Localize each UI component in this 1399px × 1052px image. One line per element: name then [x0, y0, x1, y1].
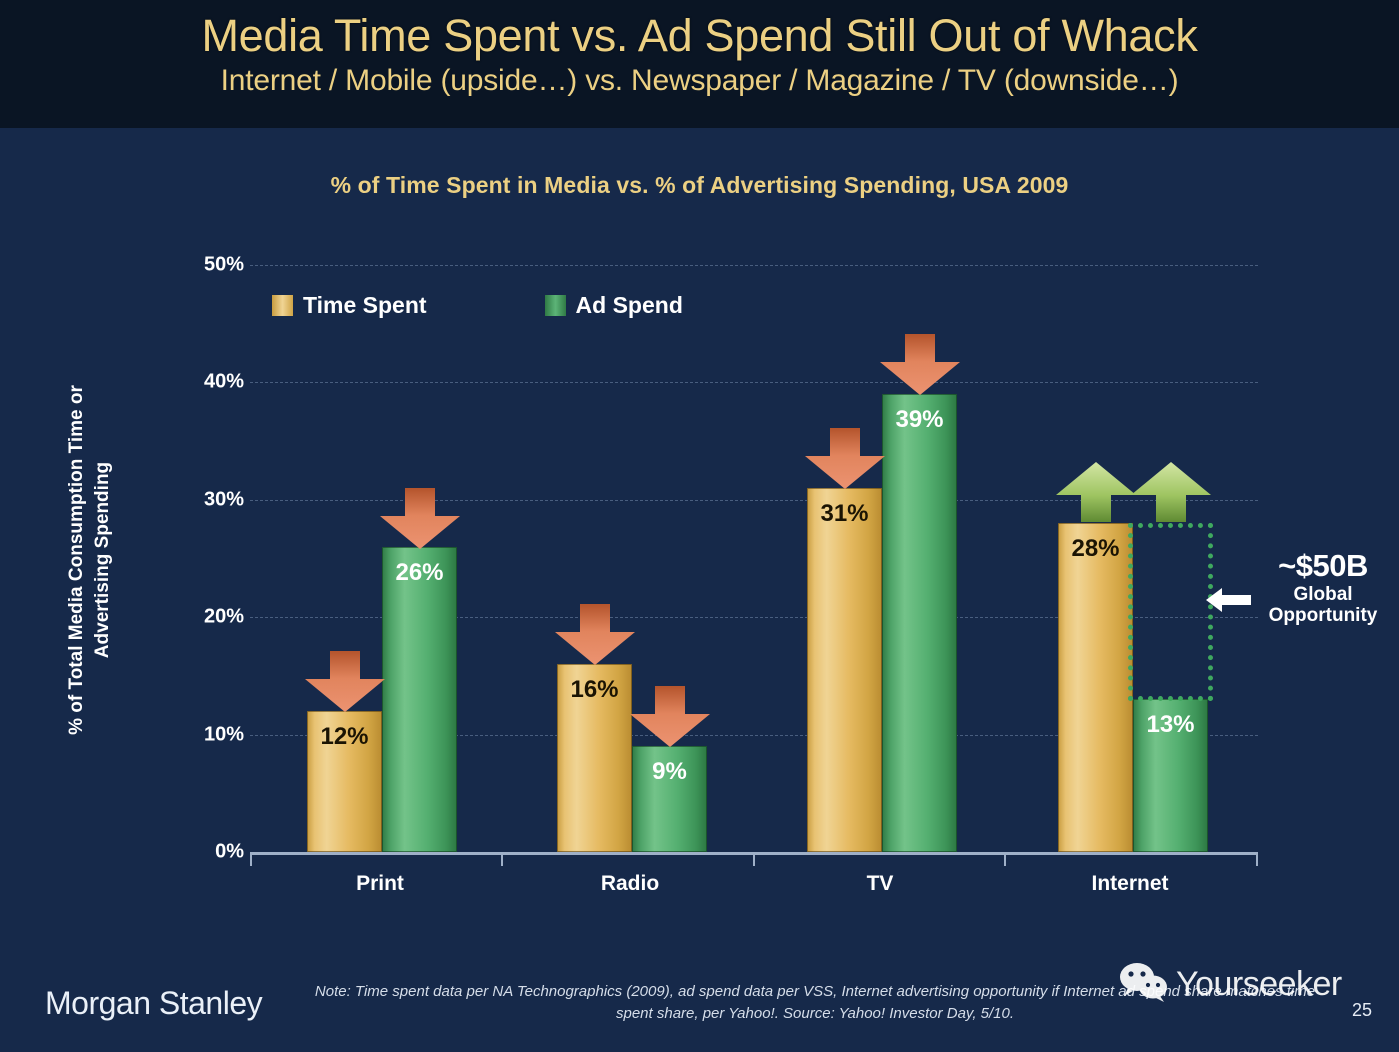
x-category-label-print: Print	[356, 872, 404, 896]
x-category-label-tv: TV	[867, 872, 894, 896]
y-tick-label: 30%	[204, 489, 244, 512]
bar-value-label: 39%	[882, 406, 957, 434]
bar-internet-time-spent[interactable]: 28%	[1058, 523, 1133, 852]
gridline	[250, 265, 1258, 266]
left-arrow-icon	[1206, 585, 1252, 620]
chart-plot-area: 50% 40% 30% 20% 10% 0% 12% 26% 16% 9% 31…	[250, 258, 1258, 858]
bar-value-label: 26%	[382, 559, 457, 587]
x-axis-tick	[1256, 852, 1258, 866]
bar-tv-ad-spend[interactable]: 39%	[882, 394, 957, 852]
opportunity-gap-box	[1128, 523, 1213, 701]
down-arrow-icon	[629, 686, 711, 748]
x-axis-tick	[250, 852, 252, 866]
gridline	[250, 382, 1258, 383]
bar-print-ad-spend[interactable]: 26%	[382, 547, 457, 852]
bar-value-label: 28%	[1058, 535, 1133, 563]
callout-line-1: Global	[1248, 584, 1398, 606]
footnote-text: Note: Time spent data per NA Technograph…	[310, 981, 1320, 1025]
down-arrow-icon	[554, 604, 636, 666]
x-axis-tick	[501, 852, 503, 866]
up-arrow-icon	[1055, 461, 1137, 523]
chart-title: % of Time Spent in Media vs. % of Advert…	[0, 172, 1399, 199]
y-tick-label: 40%	[204, 371, 244, 394]
morgan-stanley-logo: Morgan Stanley	[45, 985, 262, 1022]
y-tick-label: 10%	[204, 724, 244, 747]
bar-radio-ad-spend[interactable]: 9%	[632, 746, 707, 852]
up-arrow-icon	[1130, 461, 1212, 523]
x-category-label-internet: Internet	[1091, 872, 1168, 896]
y-tick-label: 0%	[215, 841, 244, 864]
bar-value-label: 16%	[557, 676, 632, 704]
y-axis-title: % of Total Media Consumption Time or Adv…	[64, 0, 124, 335]
y-tick-label: 20%	[204, 606, 244, 629]
opportunity-callout: ~$50B Global Opportunity	[1248, 548, 1398, 627]
page-subtitle: Internet / Mobile (upside…) vs. Newspape…	[0, 59, 1399, 97]
down-arrow-icon	[879, 334, 961, 396]
page-title: Media Time Spent vs. Ad Spend Still Out …	[0, 0, 1399, 59]
bar-value-label: 13%	[1133, 711, 1208, 739]
x-axis-tick	[1004, 852, 1006, 866]
slide-header: Media Time Spent vs. Ad Spend Still Out …	[0, 0, 1399, 128]
bar-value-label: 9%	[632, 758, 707, 786]
down-arrow-icon	[379, 488, 461, 550]
bar-tv-time-spent[interactable]: 31%	[807, 488, 882, 852]
x-category-label-radio: Radio	[601, 872, 659, 896]
down-arrow-icon	[304, 651, 386, 713]
bar-print-time-spent[interactable]: 12%	[307, 711, 382, 852]
x-axis-tick	[753, 852, 755, 866]
callout-line-2: Opportunity	[1248, 605, 1398, 627]
callout-amount: ~$50B	[1248, 548, 1398, 584]
bar-internet-ad-spend[interactable]: 13%	[1133, 699, 1208, 852]
y-axis-title-text: % of Total Media Consumption Time or Adv…	[64, 335, 115, 785]
bar-radio-time-spent[interactable]: 16%	[557, 664, 632, 852]
page-number: 25	[1352, 1000, 1372, 1021]
down-arrow-icon	[804, 428, 886, 490]
bar-value-label: 12%	[307, 723, 382, 751]
bar-value-label: 31%	[807, 500, 882, 528]
y-tick-label: 50%	[204, 254, 244, 277]
